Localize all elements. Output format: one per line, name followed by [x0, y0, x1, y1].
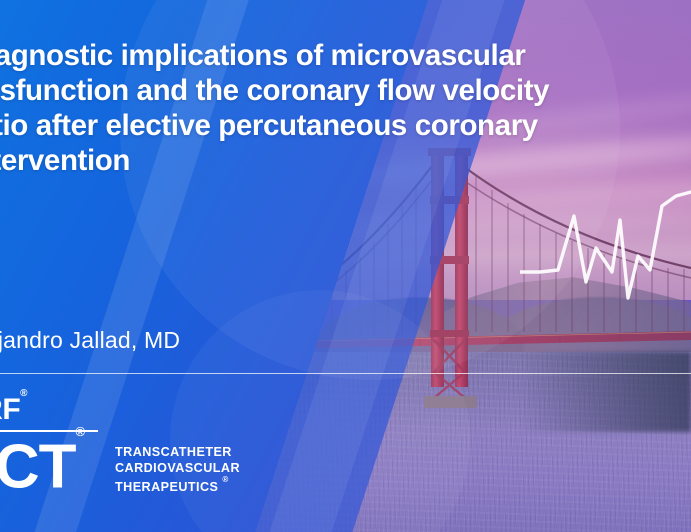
crf-tct-logo: CRF® TCT® TRANSCATHETER CARDIOVASCULAR T…: [0, 393, 260, 503]
tagline-line-3: THERAPEUTICS ®: [115, 476, 240, 496]
tct-text: TCT: [0, 433, 76, 502]
crf-registered-mark: ®: [20, 388, 27, 399]
tct-registered-mark: ®: [76, 424, 85, 439]
crf-text: CRF: [0, 393, 20, 426]
speaker-name: Alejandro Jallad, MD: [0, 327, 180, 354]
crf-wordmark: CRF®: [0, 393, 27, 427]
tagline-line-2: CARDIOVASCULAR: [115, 461, 240, 477]
horizontal-divider: [0, 373, 691, 374]
title-slide: Diagnostic implications of microvascular…: [0, 0, 691, 532]
tagline-line-3-text: THERAPEUTICS: [115, 480, 218, 494]
tct-tagline: TRANSCATHETER CARDIOVASCULAR THERAPEUTIC…: [115, 445, 240, 496]
tagline-registered-mark: ®: [222, 475, 228, 484]
slide-title: Diagnostic implications of microvascular…: [0, 38, 556, 178]
tagline-line-1: TRANSCATHETER: [115, 445, 240, 461]
tct-wordmark: TCT®: [0, 431, 84, 499]
